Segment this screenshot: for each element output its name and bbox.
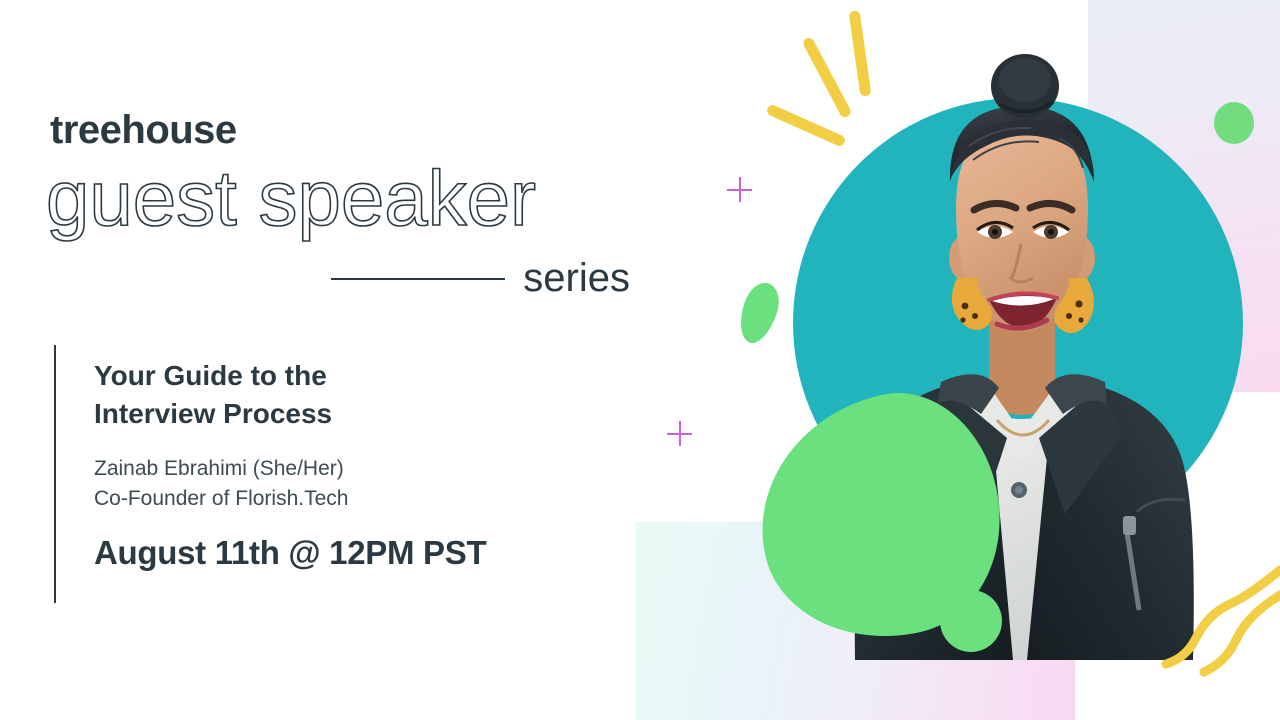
speaker-name: Zainab Ebrahimi (She/Her) <box>94 454 486 484</box>
squiggle-lines-icon <box>1160 560 1280 680</box>
green-circle-topright <box>1214 102 1254 144</box>
headline-outlined: guest speaker <box>46 158 536 240</box>
talk-title: Your Guide to the Interview Process <box>94 357 486 432</box>
brand-wordmark: treehouse <box>50 108 237 153</box>
event-details-block: Your Guide to the Interview Process Zain… <box>54 345 486 603</box>
plus-icon-upper <box>727 177 752 202</box>
series-label: series <box>523 256 630 301</box>
green-pebble-shape <box>733 278 784 347</box>
event-datetime: August 11th @ 12PM PST <box>94 534 486 572</box>
series-divider-rule <box>331 278 505 280</box>
green-circle-small <box>940 590 1002 652</box>
plus-icon-lower <box>667 421 692 446</box>
series-row: series <box>50 256 630 301</box>
speaker-role: Co-Founder of Florish.Tech <box>94 484 486 514</box>
guest-speaker-promo-graphic: treehouse guest speaker series Your Guid… <box>0 0 1280 720</box>
